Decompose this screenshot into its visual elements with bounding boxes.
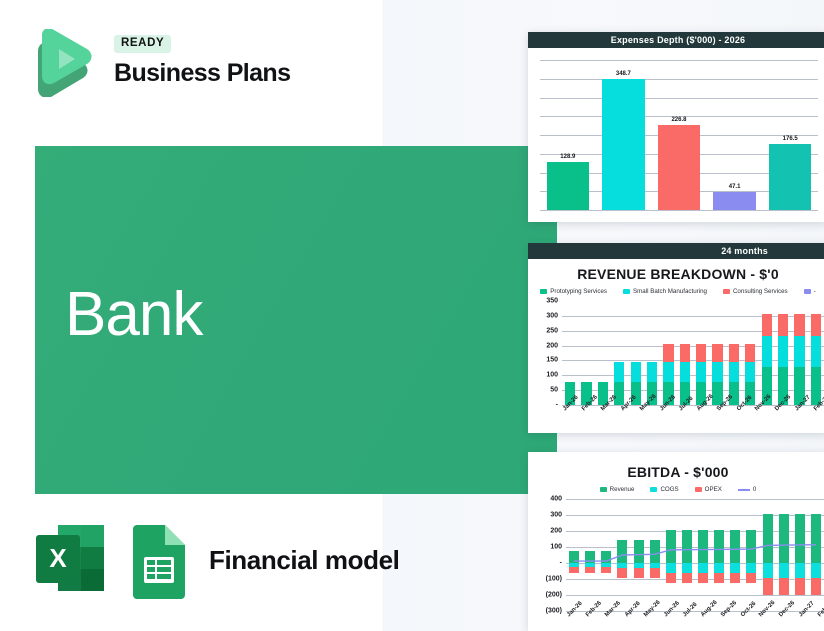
bar-slot [775,301,791,405]
x-axis-labels: Jan-26Feb-26Mar-26Apr-26May-26Jun-26Jul-… [562,408,824,414]
svg-text:X: X [49,543,67,573]
legend-label: Revenue [610,486,635,493]
bar-segment [811,314,821,336]
bar-slot [709,301,725,405]
bar-segment [614,382,624,405]
legend-item: Small Batch Manufacturing [623,288,707,295]
bar-slot: 348.7 [596,60,652,210]
legend-label: COGS [660,486,678,493]
y-axis-tick: (100) [546,576,562,583]
bar-slot [595,301,611,405]
chart-card-revenue[interactable]: 24 months REVENUE BREAKDOWN - $'0 Protot… [528,243,824,433]
revenue-chart-title: REVENUE BREAKDOWN - $'0 [528,266,824,282]
y-axis-tick: 200 [550,528,562,535]
bar-slot [791,301,807,405]
y-axis-tick: - [556,402,558,409]
legend-label: OPEX [705,486,722,493]
bar-group: 128.9348.7226.847.1176.5 [540,60,818,210]
bar [602,79,644,210]
legend-color-swatch [623,289,630,294]
stacked-bar [811,314,821,405]
bar [547,162,589,210]
bar-segment [794,314,804,336]
bar-slot [660,301,676,405]
bar-segment [696,344,706,362]
stacked-bar [794,314,804,405]
y-axis-tick: 300 [546,312,558,319]
legend-line-swatch [738,489,750,491]
slide-canvas: READY Business Plans Bank X [0,0,824,631]
bar-value-label: 348.7 [616,71,631,77]
legend-item: Revenue [600,486,635,493]
bar-segment [745,344,755,362]
y-axis-tick: (200) [546,592,562,599]
legend-item: OPEX [695,486,722,493]
legend-item: Consulting Services [723,288,788,295]
google-sheets-file-icon [127,521,191,599]
bar-slot [644,301,660,405]
bar-segment [762,314,772,336]
y-axis-tick: 100 [546,372,558,379]
gridline [540,210,818,211]
legend-label: Small Batch Manufacturing [633,288,707,295]
y-axis-tick: - [560,560,562,567]
expenses-plot-area: 128.9348.7226.847.1176.5 [540,60,818,210]
bar-segment [762,336,772,367]
bar-slot [693,301,709,405]
bar-value-label: 176.5 [783,136,798,142]
legend-item: - [804,288,816,295]
ebitda-legend: RevenueCOGSOPEX0 [528,486,824,493]
bar-slot [628,301,644,405]
stacked-bar [712,344,722,405]
bar-slot: 176.5 [762,60,818,210]
bar-slot [726,301,742,405]
y-axis-tick: 300 [550,512,562,519]
bar [769,144,811,210]
legend-label: Consulting Services [733,288,788,295]
bar-segment [696,362,706,383]
ebitda-plot-area: 400300200100-(100)(200)(300)Jan-26Feb-26… [566,499,824,611]
y-axis-tick: 100 [550,544,562,551]
y-axis-tick: 250 [546,327,558,334]
chart-card-expenses[interactable]: Expenses Depth ($'000) - 2026 128.9348.7… [528,32,824,222]
brand-title: Business Plans [114,61,290,86]
footer-row: X Financial model [32,519,400,601]
excel-file-icon: X [32,521,112,599]
bar-segment [631,362,641,383]
bar-segment [811,367,821,405]
bar-segment [647,362,657,383]
bar-value-label: 128.9 [560,154,575,160]
legend-color-swatch [600,487,607,492]
legend-item: 0 [738,486,756,493]
bar-slot: 47.1 [707,60,763,210]
bar-segment [663,362,673,383]
brand-text-block: READY Business Plans [114,33,290,86]
bar-slot [759,301,775,405]
bar-slot [611,301,627,405]
legend-item: Prototyping Services [540,288,607,295]
y-axis-tick: 200 [546,342,558,349]
bar-slot [562,301,578,405]
legend-label: - [814,288,816,295]
play-logo-icon [28,29,94,97]
bar-slot: 128.9 [540,60,596,210]
bar-segment [778,336,788,367]
y-axis-tick: 400 [550,496,562,503]
legend-color-swatch [723,289,730,294]
y-axis-tick: 350 [546,298,558,305]
stacked-bar [696,344,706,405]
legend-label: Prototyping Services [550,288,607,295]
ebitda-chart-title: EBITDA - $'000 [528,464,824,480]
footer-label: Financial model [209,545,400,576]
legend-color-swatch [540,289,547,294]
bar-segment [729,344,739,362]
bar-segment [663,344,673,362]
bar-segment [712,344,722,362]
bar-segment [745,362,755,383]
y-axis-tick: (300) [546,608,562,615]
stacked-bar [762,314,772,405]
stacked-bar [778,314,788,405]
brand-header: READY Business Plans [28,27,368,103]
bar-segment [712,362,722,383]
y-axis-tick: 50 [550,387,558,394]
bar-slot [677,301,693,405]
legend-item: COGS [650,486,678,493]
bar-slot [578,301,594,405]
bar-group [562,301,824,405]
legend-color-swatch [804,289,811,294]
bar-slot [742,301,758,405]
revenue-plot-area: 35030025020015010050-Jan-26Feb-26Mar-26A… [562,301,824,405]
revenue-header-bar: 24 months [528,243,824,259]
page-title: Bank [65,284,202,346]
bar-slot [808,301,824,405]
legend-color-swatch [695,487,702,492]
x-axis-labels: Jan-26Feb-26Mar-26Apr-26May-26Jun-26Jul-… [566,614,824,620]
chart-card-ebitda[interactable]: EBITDA - $'000 RevenueCOGSOPEX0 40030020… [528,452,824,631]
bar-value-label: 47.1 [729,184,741,190]
bar [713,192,755,210]
bar-segment [680,362,690,383]
bar-segment [729,362,739,383]
zero-line-series [566,499,824,611]
bar-segment [811,336,821,367]
legend-label: 0 [753,486,756,493]
bar-segment [614,362,624,383]
revenue-legend: Prototyping ServicesSmall Batch Manufact… [528,288,824,295]
hero-panel: Bank [35,146,557,494]
bar-segment [680,344,690,362]
bar-segment [778,314,788,336]
bar-slot: 226.8 [651,60,707,210]
ready-badge: READY [114,35,171,53]
bar-value-label: 226.8 [671,117,686,123]
bar [658,125,700,210]
bar-segment [794,336,804,367]
legend-color-swatch [650,487,657,492]
y-axis-tick: 150 [546,357,558,364]
expenses-header-bar: Expenses Depth ($'000) - 2026 [528,32,824,48]
